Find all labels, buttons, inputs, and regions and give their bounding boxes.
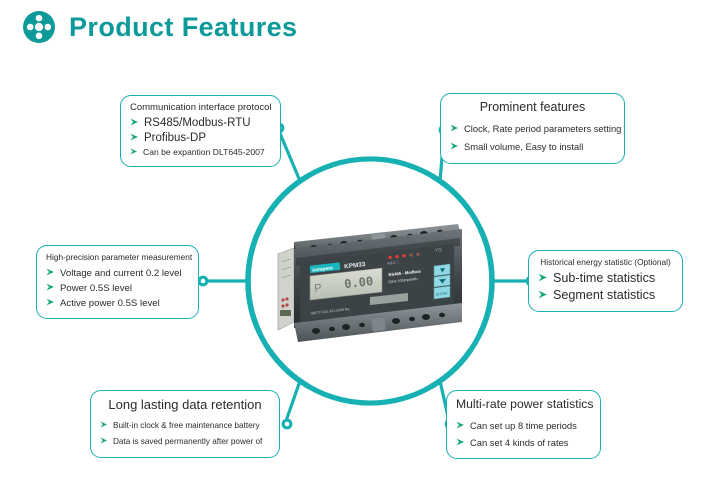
spoke-comm bbox=[279, 131, 300, 181]
callout-prominent-features: Prominent features Clock, Rate period pa… bbox=[440, 93, 625, 164]
callout-long-lasting-data-retention: Long lasting data retention Built-in clo… bbox=[90, 390, 280, 458]
arrow-bullet-icon bbox=[538, 273, 548, 282]
list-item-label: Segment statistics bbox=[553, 287, 655, 304]
list-item: Profibus-DP bbox=[130, 131, 271, 146]
arrow-bullet-icon bbox=[130, 133, 139, 141]
arrow-bullet-icon bbox=[46, 283, 55, 291]
spoke-retention bbox=[286, 381, 300, 421]
callout-high-precision-parameter-measurement: High-precision parameter measurement Vol… bbox=[36, 245, 199, 319]
callout-multi-rate-power-statistics: Multi-rate power statistics Can set up 8… bbox=[446, 390, 601, 459]
list-item-label: Data is saved permanently after power of bbox=[113, 434, 262, 450]
callout-title: High-precision parameter measurement bbox=[46, 252, 189, 262]
product-image: compere KPM33 A B C ⎍ YG P 0.00 RS485 - … bbox=[272, 218, 468, 343]
list-item: Can set up 8 time periods bbox=[456, 417, 591, 434]
list-item: Segment statistics bbox=[538, 287, 673, 304]
callout-title: Communication interface protocol bbox=[130, 102, 271, 113]
list-item: Built-in clock & free maintenance batter… bbox=[100, 418, 270, 434]
callout-title: Prominent features bbox=[450, 100, 615, 114]
arrow-bullet-icon bbox=[450, 142, 459, 150]
list-item: Data is saved permanently after power of bbox=[100, 434, 270, 450]
list-item: RS485/Modbus-RTU bbox=[130, 116, 271, 131]
arrow-bullet-icon bbox=[130, 118, 139, 126]
svg-text:YG: YG bbox=[435, 247, 443, 253]
list-item: Can set 4 kinds of rates bbox=[456, 434, 591, 451]
callout-list: Sub-time statistics Segment statistics bbox=[538, 270, 673, 304]
list-item: Power 0.5S level bbox=[46, 281, 189, 296]
arrow-bullet-icon bbox=[100, 437, 108, 444]
list-item-label: Can set up 8 time periods bbox=[470, 417, 577, 434]
list-item-label: Built-in clock & free maintenance batter… bbox=[113, 418, 260, 434]
list-item-label: Can be expantion DLT645-2007 bbox=[143, 146, 265, 159]
list-item-label: Clock, Rate period parameters setting bbox=[464, 120, 621, 138]
svg-text:P: P bbox=[314, 282, 323, 295]
callout-communication-interface-protocol: Communication interface protocol RS485/M… bbox=[120, 95, 281, 167]
device-side-terminal bbox=[278, 248, 294, 330]
list-item: Sub-time statistics bbox=[538, 270, 673, 287]
arrow-bullet-icon bbox=[538, 290, 548, 299]
list-item-label: RS485/Modbus-RTU bbox=[144, 116, 251, 131]
arrow-bullet-icon bbox=[46, 268, 55, 276]
callout-historical-energy-statistic: Historical energy statistic (Optional) S… bbox=[528, 250, 683, 312]
callout-list: Voltage and current 0.2 level Power 0.5S… bbox=[46, 266, 189, 311]
list-item-label: Active power 0.5S level bbox=[60, 296, 160, 311]
arrow-bullet-icon bbox=[450, 124, 459, 132]
list-item-label: Voltage and current 0.2 level bbox=[60, 266, 182, 281]
callout-title: Multi-rate power statistics bbox=[456, 397, 591, 411]
list-item: Clock, Rate period parameters setting bbox=[450, 120, 615, 138]
arrow-bullet-icon bbox=[100, 421, 108, 428]
list-item: Active power 0.5S level bbox=[46, 296, 189, 311]
callout-list: Can set up 8 time periods Can set 4 kind… bbox=[456, 417, 591, 451]
list-item-label: Sub-time statistics bbox=[553, 270, 655, 287]
callout-title: Long lasting data retention bbox=[100, 397, 270, 412]
list-item: Small volume, Easy to install bbox=[450, 138, 615, 156]
list-item: Voltage and current 0.2 level bbox=[46, 266, 189, 281]
callout-list: Built-in clock & free maintenance batter… bbox=[100, 418, 270, 450]
callout-list: Clock, Rate period parameters setting Sm… bbox=[450, 120, 615, 156]
list-item: Can be expantion DLT645-2007 bbox=[130, 146, 271, 159]
list-item-label: Small volume, Easy to install bbox=[464, 138, 583, 156]
arrow-bullet-icon bbox=[130, 148, 138, 155]
arrow-bullet-icon bbox=[46, 298, 55, 306]
list-item-label: Power 0.5S level bbox=[60, 281, 132, 296]
list-item-label: Profibus-DP bbox=[144, 131, 206, 146]
callout-title: Historical energy statistic (Optional) bbox=[538, 257, 673, 267]
arrow-bullet-icon bbox=[456, 421, 465, 429]
list-item-label: Can set 4 kinds of rates bbox=[470, 434, 569, 451]
callout-list: RS485/Modbus-RTU Profibus-DP Can be expa… bbox=[130, 116, 271, 159]
arrow-bullet-icon bbox=[456, 438, 465, 446]
device-buttons[interactable]: ENTER bbox=[434, 264, 450, 299]
